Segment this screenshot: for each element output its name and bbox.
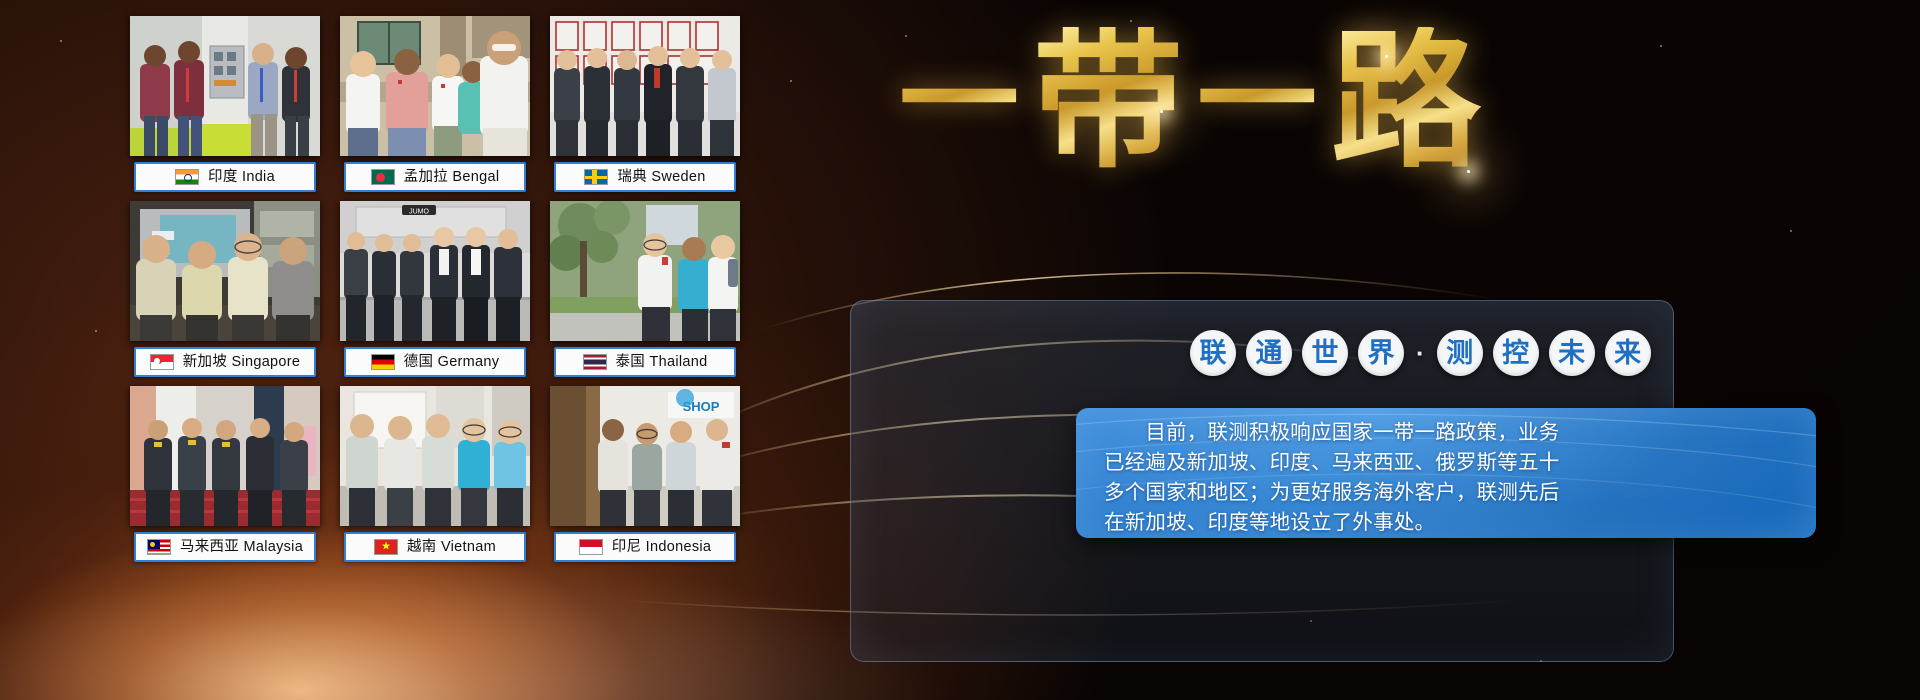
speck — [60, 40, 62, 42]
country-name-en: Singapore — [231, 354, 300, 370]
slogan-separator-dot: · — [1414, 340, 1427, 366]
description-line-2: 已经遍及新加坡、印度、马来西亚、俄罗斯等五十 — [1104, 450, 1559, 474]
country-name-cn: 瑞典 — [617, 169, 647, 185]
slogan-row: 联 通 世 界 · 测 控 未 来 — [1190, 330, 1651, 376]
country-name-cn: 新加坡 — [183, 354, 227, 370]
photo-bengal — [340, 16, 530, 156]
slogan-char-5: 测 — [1437, 330, 1483, 376]
country-name-cn: 印度 — [208, 169, 238, 185]
country-name-cn: 马来西亚 — [180, 539, 239, 555]
country-label-sweden: 瑞典 Sweden — [554, 162, 736, 192]
photo-india — [130, 16, 320, 156]
slogan-char-2: 通 — [1246, 330, 1292, 376]
description-card: 目前，联测积极响应国家一带一路政策，业务已经遍及新加坡、印度、马来西亚、俄罗斯等… — [1076, 408, 1816, 538]
calligraphy-char-2: 带 — [1033, 27, 1183, 177]
flag-vietnam-icon — [374, 539, 398, 555]
gallery-cell-sweden[interactable]: 瑞典 Sweden — [550, 16, 740, 199]
description-line-3: 多个国家和地区；为更好服务海外客户，联测先后 — [1104, 480, 1559, 504]
description-line-4: 在新加坡、印度等地设立了外事处。 — [1104, 510, 1435, 534]
calligraphy-char-1: 一 — [899, 42, 1019, 162]
gallery-cell-malaysia[interactable]: 马来西亚 Malaysia — [130, 386, 320, 569]
speck — [1660, 45, 1662, 47]
country-name-en: Malaysia — [243, 539, 303, 555]
description-paragraph: 目前，联测积极响应国家一带一路政策，业务已经遍及新加坡、印度、马来西亚、俄罗斯等… — [1104, 417, 1788, 538]
country-name-en: Bengal — [452, 169, 499, 185]
photo-thailand — [550, 201, 740, 341]
country-name-en: Indonesia — [646, 539, 712, 555]
flag-singapore-icon — [150, 354, 174, 370]
photo-germany: JUMO — [340, 201, 530, 341]
speck — [790, 80, 792, 82]
gallery-cell-india[interactable]: 印度 India — [130, 16, 320, 199]
slogan-char-6: 控 — [1493, 330, 1539, 376]
slogan-char-3: 世 — [1302, 330, 1348, 376]
flag-germany-icon — [371, 354, 395, 370]
slogan-char-7: 未 — [1549, 330, 1595, 376]
country-label-thailand: 泰国 Thailand — [554, 347, 736, 377]
country-name-cn: 越南 — [407, 539, 437, 555]
country-name-en: Thailand — [649, 354, 707, 370]
country-name-cn: 泰国 — [616, 354, 646, 370]
photo-sweden — [550, 16, 740, 156]
calligraphy-char-4: 路 — [1331, 27, 1481, 177]
slogan-char-4: 界 — [1358, 330, 1404, 376]
country-name-en: Vietnam — [441, 539, 496, 555]
flag-indonesia-icon — [579, 539, 603, 555]
country-label-singapore: 新加坡 Singapore — [134, 347, 316, 377]
speck — [905, 35, 907, 37]
speck — [1130, 20, 1132, 22]
sparkle-icon — [1385, 55, 1388, 58]
country-label-india: 印度 India — [134, 162, 316, 192]
country-photo-grid: 印度 India — [130, 16, 760, 586]
flag-thailand-icon — [583, 354, 607, 370]
calligraphy-char-3: 一 — [1197, 42, 1317, 162]
svg-text:JUMO: JUMO — [409, 209, 429, 216]
country-label-indonesia: 印尼 Indonesia — [554, 532, 736, 562]
flag-bangladesh-icon — [371, 169, 395, 185]
country-name-en: Germany — [438, 354, 500, 370]
flag-sweden-icon — [584, 169, 608, 185]
country-label-bengal: 孟加拉 Bengal — [344, 162, 526, 192]
country-name-cn: 德国 — [404, 354, 434, 370]
gallery-cell-vietnam[interactable]: 越南 Vietnam — [340, 386, 530, 569]
photo-vietnam — [340, 386, 530, 526]
photo-malaysia — [130, 386, 320, 526]
country-name-cn: 印尼 — [612, 539, 642, 555]
speck — [95, 330, 97, 332]
gallery-cell-germany[interactable]: JUMO — [340, 201, 530, 384]
photo-singapore — [130, 201, 320, 341]
gallery-cell-bengal[interactable]: 孟加拉 Bengal — [340, 16, 530, 199]
slogan-char-1: 联 — [1190, 330, 1236, 376]
flag-india-icon — [175, 169, 199, 185]
country-label-malaysia: 马来西亚 Malaysia — [134, 532, 316, 562]
country-label-germany: 德国 Germany — [344, 347, 526, 377]
country-name-en: India — [242, 169, 275, 185]
gallery-cell-singapore[interactable]: 新加坡 Singapore — [130, 201, 320, 384]
headline-calligraphy: 一 带 一 路 — [840, 2, 1540, 202]
description-closing-line: 联测，为国产仪表正名，为中国制造加分！ — [1104, 538, 1788, 539]
photo-indonesia: SHOP — [550, 386, 740, 526]
country-name-en: Sweden — [651, 169, 705, 185]
description-line-1: 目前，联测积极响应国家一带一路政策，业务 — [1104, 420, 1559, 444]
sparkle-icon — [1160, 110, 1163, 113]
country-name-cn: 孟加拉 — [404, 169, 448, 185]
slogan-char-8: 来 — [1605, 330, 1651, 376]
gallery-cell-thailand[interactable]: 泰国 Thailand — [550, 201, 740, 384]
speck — [1790, 230, 1792, 232]
country-label-vietnam: 越南 Vietnam — [344, 532, 526, 562]
sparkle-icon — [1467, 170, 1470, 173]
gallery-cell-indonesia[interactable]: SHOP — [550, 386, 740, 569]
flag-malaysia-icon — [147, 539, 171, 555]
banner-stage: 印度 India — [0, 0, 1920, 700]
